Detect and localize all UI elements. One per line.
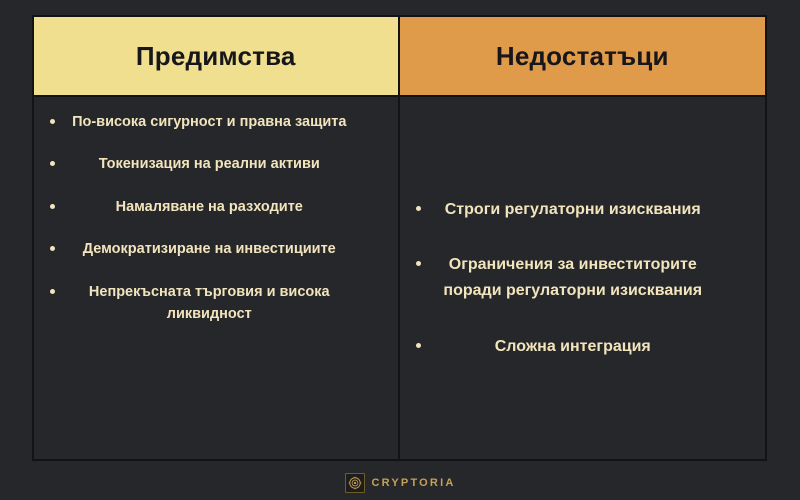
table-header-row: Предимства Недостатъци: [34, 17, 765, 97]
list-item: Намаляване на разходите: [50, 196, 382, 218]
column-body-cons: Строги регулаторни изисквания Ограничени…: [400, 97, 766, 459]
list-item-label: По-висока сигурност и правна защита: [55, 111, 382, 133]
list-item-label: Ограничения за инвеститорите поради регу…: [421, 252, 750, 303]
footer-branding: CRYPTORIA: [0, 466, 800, 500]
list-item: Демократизиране на инвестициите: [50, 238, 382, 260]
list-item: По-висока сигурност и правна защита: [50, 111, 382, 133]
list-item: Сложна интеграция: [416, 334, 750, 360]
column-header-pros-label: Предимства: [136, 41, 296, 72]
list-item: Токенизация на реални активи: [50, 153, 382, 175]
crypto-coin-emblem-icon: [345, 473, 365, 493]
list-item-label: Сложна интеграция: [421, 334, 750, 360]
comparison-table: Предимства Недостатъци По-висока сигурно…: [32, 15, 767, 461]
list-item: Непрекъсната търговия и висока ликвиднос…: [50, 281, 382, 326]
list-item: Ограничения за инвеститорите поради регу…: [416, 252, 750, 303]
list-item: Строги регулаторни изисквания: [416, 197, 750, 223]
list-item-label: Строги регулаторни изисквания: [421, 197, 750, 223]
column-body-pros: По-висока сигурност и правна защита Токе…: [34, 97, 400, 459]
pros-list: По-висока сигурност и правна защита Токе…: [50, 111, 382, 330]
list-item-label: Демократизиране на инвестициите: [55, 238, 382, 260]
column-header-pros: Предимства: [34, 17, 400, 95]
brand-name: CRYPTORIA: [372, 477, 456, 489]
cons-list: Строги регулаторни изисквания Ограничени…: [416, 197, 750, 359]
list-item-label: Токенизация на реални активи: [55, 153, 382, 175]
list-item-label: Непрекъсната търговия и висока ликвиднос…: [55, 281, 382, 326]
column-header-cons-label: Недостатъци: [496, 41, 669, 72]
list-item-label: Намаляване на разходите: [55, 196, 382, 218]
column-header-cons: Недостатъци: [400, 17, 766, 95]
table-body-row: По-висока сигурност и правна защита Токе…: [34, 97, 765, 459]
